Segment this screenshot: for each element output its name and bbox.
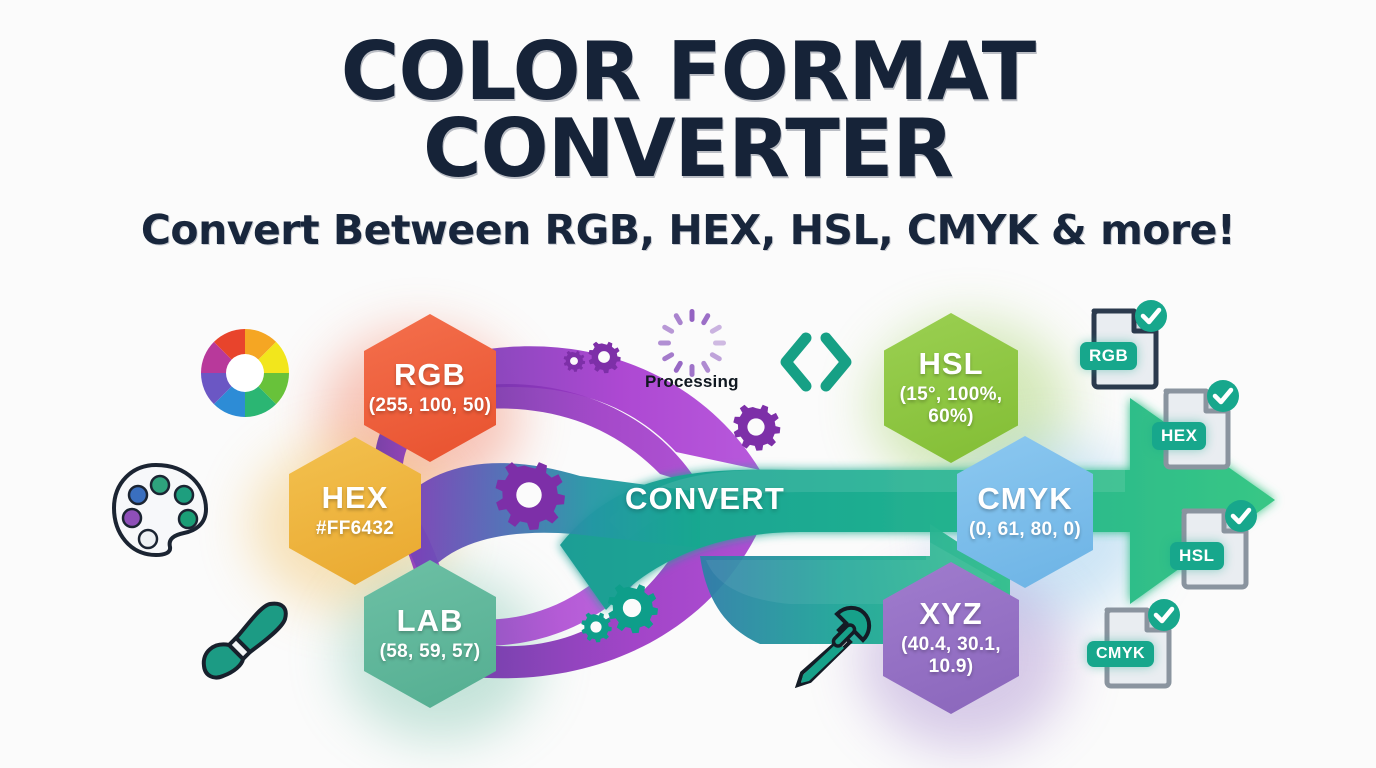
check-circle-icon [1147,598,1181,632]
color-wheel-icon [201,329,289,417]
export-label: HEX [1152,422,1206,450]
format-value: (0, 61, 80, 0) [969,519,1081,541]
format-hex-xyz[interactable]: XYZ (40.4, 30.1, 10.9) [883,562,1019,714]
export-label: RGB [1080,342,1137,370]
page-title: COLOR FORMAT CONVERTER Convert Between R… [0,34,1376,254]
processing-label: Processing [645,372,739,392]
infographic-canvas: COLOR FORMAT CONVERTER Convert Between R… [0,0,1376,768]
export-file-hex[interactable]: HEX [1160,385,1234,469]
title-line-1: COLOR FORMAT [0,34,1376,111]
export-file-cmyk[interactable]: CMYK [1101,604,1175,688]
gear-large-teal [608,584,658,633]
title-line-2: CONVERTER [0,111,1376,188]
format-hex-rgb[interactable]: RGB (255, 100, 50) [364,314,496,462]
format-value: (40.4, 30.1, 10.9) [883,634,1019,678]
format-hex-hsl[interactable]: HSL (15°, 100%, 60%) [884,313,1018,463]
paint-palette-icon [114,465,206,555]
convert-label: CONVERT [625,481,785,517]
format-name: XYZ [919,598,982,631]
loading-spinner-icon [658,309,726,377]
gear-small-purple-top [733,405,780,451]
format-value: #FF6432 [316,518,394,540]
export-file-rgb[interactable]: RGB [1088,305,1162,389]
check-circle-icon [1206,379,1240,413]
format-value: (58, 59, 57) [380,641,481,663]
gear-purple-upper-small [564,351,586,372]
format-name: LAB [397,605,464,638]
gear-large-purple [496,462,565,530]
check-circle-icon [1134,299,1168,333]
format-value: (255, 100, 50) [369,395,492,417]
check-circle-icon [1224,499,1258,533]
gear-purple-upper-left [588,342,620,374]
format-hex-cmyk[interactable]: CMYK (0, 61, 80, 0) [957,436,1093,588]
export-label: HSL [1170,542,1224,570]
format-hex-hex[interactable]: HEX #FF6432 [289,437,421,585]
code-brackets-icon [786,338,846,386]
export-label: CMYK [1087,641,1154,667]
format-value: (15°, 100%, 60%) [884,384,1018,428]
eyedropper-icon [798,608,869,685]
format-name: HSL [919,348,984,381]
format-name: RGB [394,359,466,392]
format-hex-lab[interactable]: LAB (58, 59, 57) [364,560,496,708]
format-name: CMYK [977,483,1072,516]
export-file-hsl[interactable]: HSL [1178,505,1252,589]
page-subtitle: Convert Between RGB, HEX, HSL, CMYK & mo… [0,206,1376,254]
paintbrush-icon [204,604,286,678]
format-name: HEX [322,482,389,515]
gear-small-teal [581,613,611,643]
